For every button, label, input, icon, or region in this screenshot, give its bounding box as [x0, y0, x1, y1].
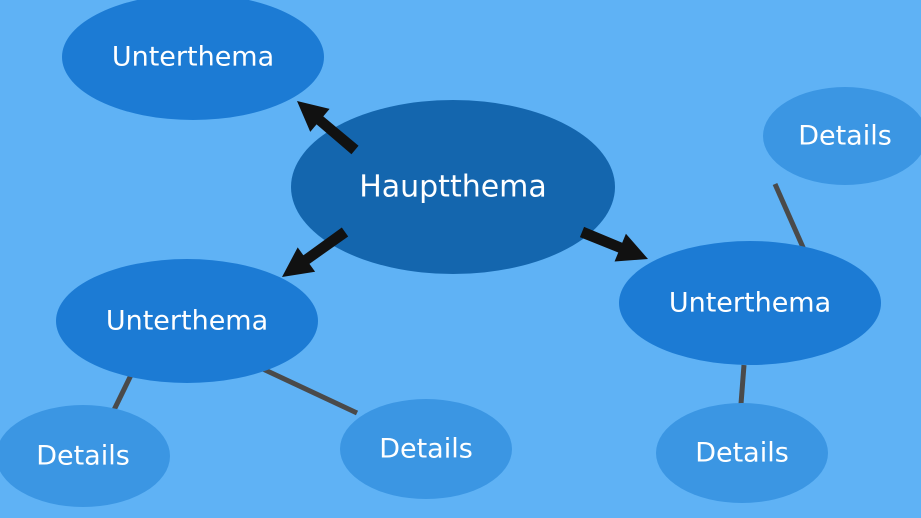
subtopic-node-label: Unterthema	[112, 42, 274, 73]
detail-node-label: Details	[798, 121, 892, 152]
connector-line	[741, 365, 744, 404]
detail-node-label: Details	[36, 441, 130, 472]
detail-node-label: Details	[695, 438, 789, 469]
subtopic-node-label: Unterthema	[106, 306, 268, 337]
detail-node-label: Details	[379, 434, 473, 465]
main-topic-node-label: Hauptthema	[359, 170, 547, 205]
subtopic-node-label: Unterthema	[669, 288, 831, 319]
mindmap-diagram: DetailsDetailsDetailsDetailsUnterthemaUn…	[0, 0, 921, 518]
mindmap-canvas: DetailsDetailsDetailsDetailsUnterthemaUn…	[0, 0, 921, 518]
